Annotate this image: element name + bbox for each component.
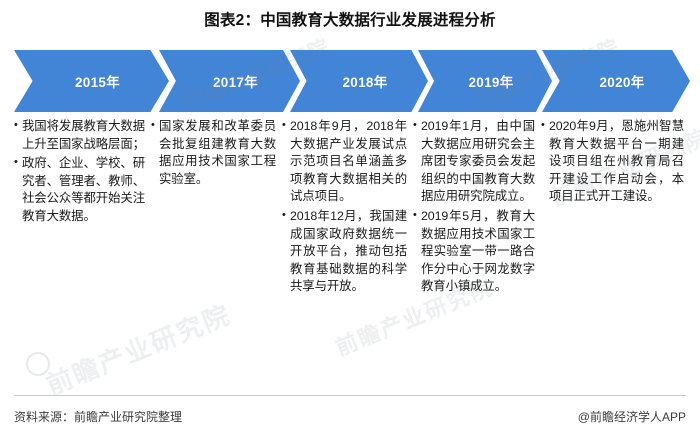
bullet-list: 2020年9月，恩施州智慧教育大数据平台一期建设项目组在州教育局召开建设工作启动… xyxy=(541,118,684,206)
timeline-chevron-2018[interactable]: 2018年 xyxy=(290,50,428,112)
timeline-year-label: 2018年 xyxy=(342,71,387,91)
list-item: 2020年9月，恩施州智慧教育大数据平台一期建设项目组在州教育局召开建设工作启动… xyxy=(541,118,684,206)
timeline-chevron-2017[interactable]: 2017年 xyxy=(159,50,300,112)
list-item: 2019年5月，教育大数据应用技术国家工程实验室一带一路合作分中心于网龙数字教育… xyxy=(413,208,535,296)
timeline-chevron-2015[interactable]: 2015年 xyxy=(14,50,169,112)
timeline-chevron-2020[interactable]: 2020年 xyxy=(542,50,690,112)
timeline-chevron-2019[interactable]: 2019年 xyxy=(418,50,552,112)
timeline-column-2019: 2019年1月，由中国大数据应用研究会主席团专家委员会发起组织的中国教育大数据应… xyxy=(413,118,541,390)
timeline-column-2015: 我国将发展教育大数据上升至国家战略层面； 政府、企业、学校、研究者、管理者、教师… xyxy=(14,118,151,390)
bullet-list: 2018年9月，2018年大数据产业发展试点示范项目名单涵盖多项教育大数据相关的… xyxy=(282,118,407,296)
timeline-content-columns: 我国将发展教育大数据上升至国家战略层面； 政府、企业、学校、研究者、管理者、教师… xyxy=(14,118,690,390)
list-item: 2018年9月，2018年大数据产业发展试点示范项目名单涵盖多项教育大数据相关的… xyxy=(282,118,407,206)
footer-divider xyxy=(14,395,686,396)
timeline-column-2018: 2018年9月，2018年大数据产业发展试点示范项目名单涵盖多项教育大数据相关的… xyxy=(282,118,413,390)
bullet-list: 2019年1月，由中国大数据应用研究会主席团专家委员会发起组织的中国教育大数据应… xyxy=(413,118,535,296)
timeline-year-label: 2017年 xyxy=(213,71,258,91)
page-title: 图表2：中国教育大数据行业发展进程分析 xyxy=(0,8,700,30)
source-note: 资料来源：前瞻产业研究院整理 xyxy=(14,408,182,425)
list-item: 国家发展和改革委员会批复组建教育大数据应用技术国家工程实验室。 xyxy=(151,118,276,188)
list-item: 我国将发展教育大数据上升至国家战略层面； xyxy=(14,118,145,153)
timeline-chevron-band: 2015年 2017年 2018年 2019年 2020年 xyxy=(14,50,690,112)
timeline-column-2017: 国家发展和改革委员会批复组建教育大数据应用技术国家工程实验室。 xyxy=(151,118,282,390)
bullet-list: 国家发展和改革委员会批复组建教育大数据应用技术国家工程实验室。 xyxy=(151,118,276,188)
timeline-year-label: 2015年 xyxy=(75,71,120,91)
bullet-list: 我国将发展教育大数据上升至国家战略层面； 政府、企业、学校、研究者、管理者、教师… xyxy=(14,118,145,226)
list-item: 政府、企业、学校、研究者、管理者、教师、社会公众等都开始关注教育大数据。 xyxy=(14,155,145,225)
timeline-year-label: 2020年 xyxy=(599,71,644,91)
list-item: 2019年1月，由中国大数据应用研究会主席团专家委员会发起组织的中国教育大数据应… xyxy=(413,118,535,206)
brand-credit: @前瞻经济学人APP xyxy=(578,408,686,425)
timeline-year-label: 2019年 xyxy=(468,71,513,91)
footer: 资料来源：前瞻产业研究院整理 @前瞻经济学人APP xyxy=(0,395,700,439)
list-item: 2018年12月，我国建成国家政府数据统一开放平台，推动包括教育基础数据的科学共… xyxy=(282,208,407,296)
timeline-column-2020: 2020年9月，恩施州智慧教育大数据平台一期建设项目组在州教育局召开建设工作启动… xyxy=(541,118,690,390)
